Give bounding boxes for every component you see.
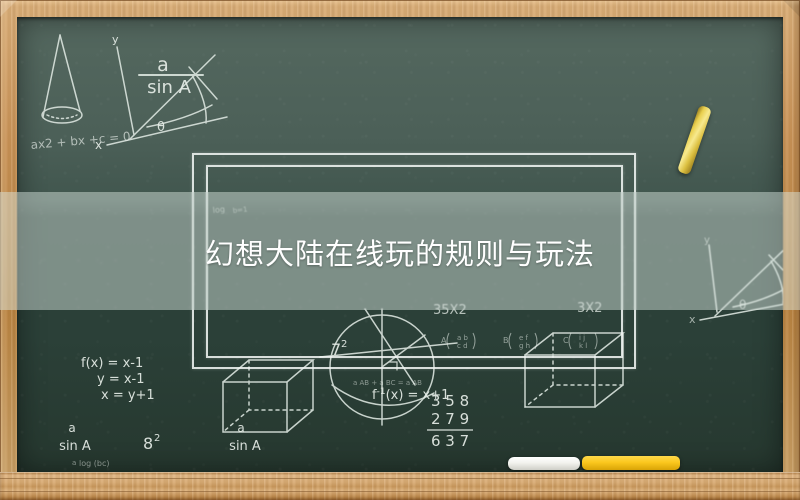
frame-corner-top-left [0,0,17,17]
chalk-frac-a-den: sin A [147,77,192,98]
chalk-fx-y: y = x-1 [97,372,145,387]
chalk-sum-result: 6 3 7 [431,432,469,450]
chalk-alog-rest: log (bc) [79,459,109,468]
chalk-quadratic-equation: ax2 + bx +c = 0 [30,129,131,152]
chalk-axis-x-right: x [689,313,696,326]
white-chalk-stick-icon [508,457,580,470]
angle-axis-diagram-left [107,47,227,145]
yellow-chalk-stick-icon [677,105,712,175]
chalk-eight: 8 [143,434,153,453]
chalk-frac3-den: sin A [229,439,261,454]
yellow-chalk-block-icon [582,456,680,470]
chalk-theta-left: θ [157,120,165,135]
chalk-sum-line2: 2 7 9 [431,410,469,428]
chalk-inverse-full: f-1(x) = x+1 [372,387,449,403]
chalk-alog: a [72,459,76,467]
cone-diagram [42,35,82,123]
chalk-frac-a-num: a [157,54,169,76]
chalk-frac2-num: a [68,421,75,435]
chalk-ab-ac-expression: a AB + a BC = a AB [353,379,422,387]
page-title: 幻想大陆在线玩的规则与玩法 [0,227,800,277]
ledge-grain-line-bottom [0,491,800,492]
chalk-eight-exp: 2 [154,433,160,444]
chalkboard-banner: a sin A y x θ ax2 + bx +c = 0 y x θ f(x)… [0,0,800,500]
chalk-frac2-den: sin A [59,439,91,454]
chalk-tray-ledge [0,472,800,500]
chalk-fx-main: f(x) = x-1 [81,356,143,371]
ledge-grain-line-top [0,478,800,479]
chalk-fx-x: x = y+1 [101,388,155,403]
frame-corner-top-right [783,0,800,17]
chalk-axis-x-left: x [95,138,102,152]
chalk-sum-line1: 3 5 8 [431,392,469,410]
column-subtraction: 3 5 8 2 7 9 6 3 7 [427,392,473,450]
cube-wireframe-center [223,360,313,432]
chalk-frac3-num: a [237,421,244,435]
chalk-axis-y-left: y [112,33,119,46]
